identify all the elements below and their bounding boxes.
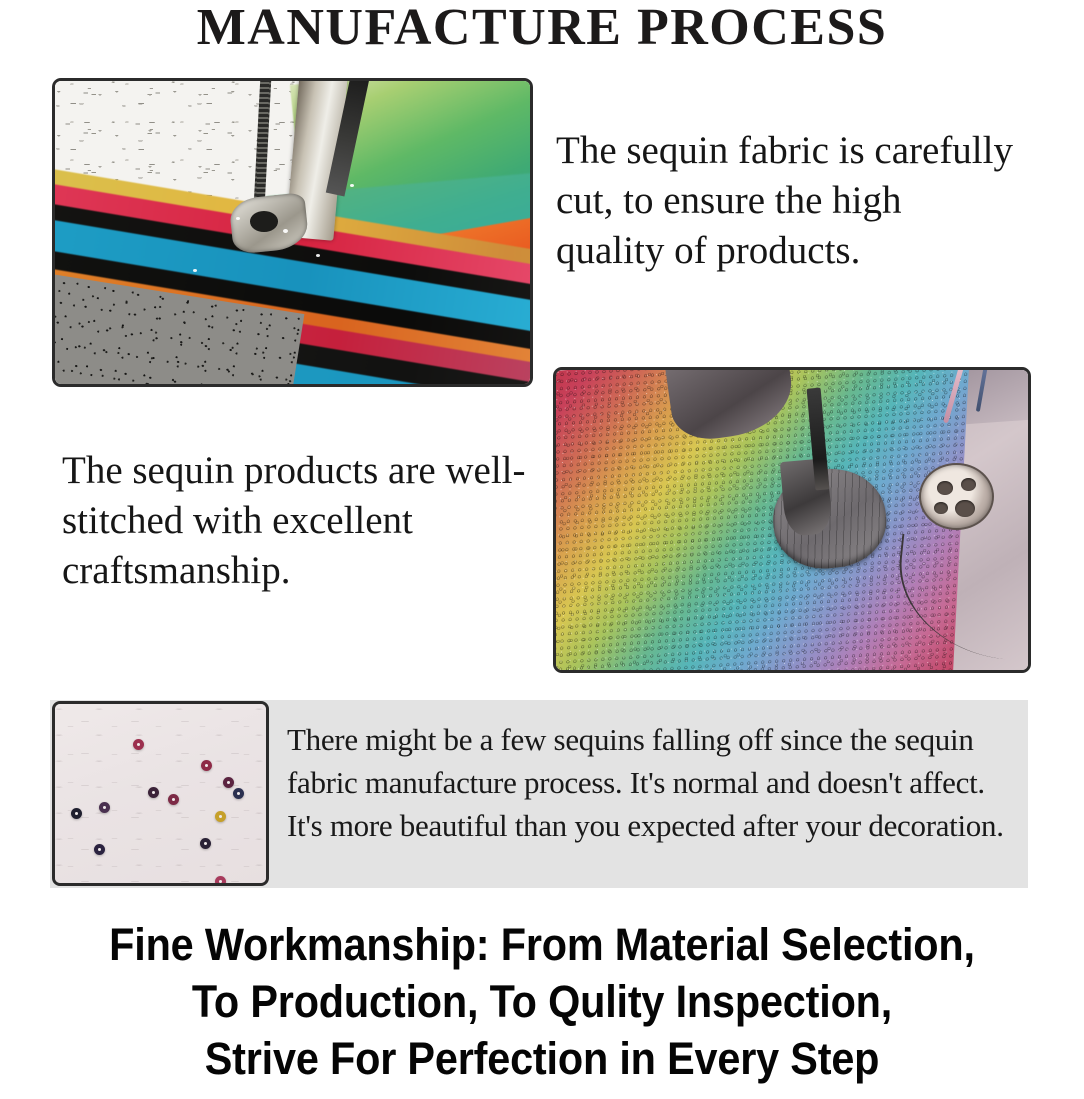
loose-sequin xyxy=(200,838,211,849)
note-text: There might be a few sequins falling off… xyxy=(287,718,1017,847)
loose-sequin xyxy=(133,739,144,750)
loose-sequin xyxy=(94,844,105,855)
bobbin-hole xyxy=(937,481,953,495)
footer-line-1: Fine Workmanship: From Material Selectio… xyxy=(43,916,1040,973)
sewing-photo-content xyxy=(556,370,1028,670)
loose-sequin xyxy=(233,788,244,799)
cutting-caption: The sequin fabric is carefully cut, to e… xyxy=(556,126,1016,276)
bobbin-hole xyxy=(934,502,948,515)
cutting-photo-content xyxy=(55,81,530,384)
loose-sequin xyxy=(223,777,234,788)
loose-sequin xyxy=(148,787,159,798)
sequin-fabric-sewing-photo xyxy=(553,367,1031,673)
stitching-caption: The sequin products are well-stitched wi… xyxy=(62,446,532,596)
bobbin-wheel xyxy=(919,463,994,530)
loose-sequin xyxy=(71,808,82,819)
footer-line-2: To Production, To Qulity Inspection, xyxy=(43,973,1040,1030)
sequin-fabric-cutting-photo xyxy=(52,78,533,387)
sparkle xyxy=(193,269,197,272)
footer-slogan: Fine Workmanship: From Material Selectio… xyxy=(43,916,1040,1087)
bobbin-hole xyxy=(961,478,976,491)
sparkle xyxy=(350,184,354,187)
footer-line-3: Strive For Perfection in Every Step xyxy=(43,1030,1040,1087)
loose-sequin xyxy=(201,760,212,771)
page-title: MANUFACTURE PROCESS xyxy=(0,0,1084,58)
loose-sequin xyxy=(168,794,179,805)
loose-sequin xyxy=(99,802,110,813)
loose-sequin xyxy=(215,811,226,822)
loose-sequin xyxy=(215,876,226,883)
loose-sequins-content xyxy=(55,704,266,883)
loose-sequins-photo xyxy=(52,701,269,886)
sparkle xyxy=(316,254,320,257)
bobbin-hole xyxy=(955,500,974,517)
